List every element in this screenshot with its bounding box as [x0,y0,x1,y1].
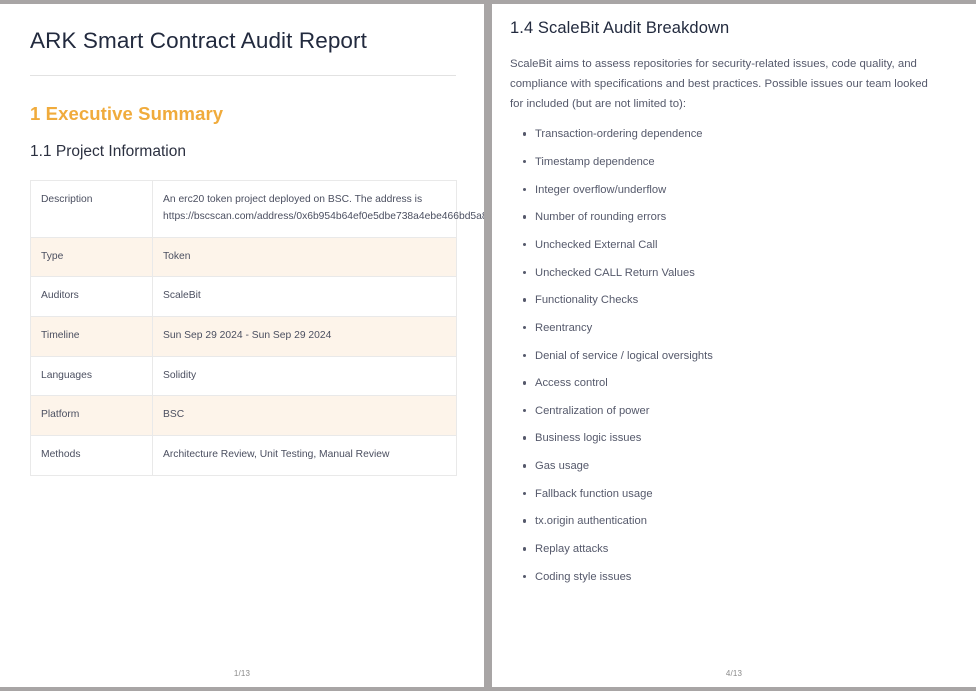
table-row: Platform BSC [31,396,457,436]
table-cell-value: Token [153,237,457,277]
list-item: Gas usage [510,459,963,474]
table-cell-key: Auditors [31,277,153,317]
document-page-1[interactable]: ARK Smart Contract Audit Report 1 Execut… [0,4,484,687]
list-item: Functionality Checks [510,293,963,308]
list-item: Access control [510,376,963,391]
list-item: Unchecked CALL Return Values [510,266,963,281]
list-item: tx.origin authentication [510,514,963,529]
table-cell-key: Languages [31,356,153,396]
table-cell-value: ScaleBit [153,277,457,317]
project-information-table-body: Description An erc20 token project deplo… [31,181,457,475]
table-cell-key: Description [31,181,153,237]
page-number-footer: 4/13 [492,669,976,678]
page-gap-divider [484,0,492,691]
list-item: Replay attacks [510,542,963,557]
section-heading-executive-summary: 1 Executive Summary [30,102,456,126]
audit-issue-list: Transaction-ordering dependence Timestam… [510,127,963,584]
list-item: Fallback function usage [510,487,963,502]
audit-breakdown-paragraph: ScaleBit aims to assess repositories for… [510,55,942,114]
list-item: Unchecked External Call [510,238,963,253]
table-cell-key: Platform [31,396,153,436]
list-item: Integer overflow/underflow [510,183,963,198]
list-item: Transaction-ordering dependence [510,127,963,142]
subsection-heading-scalebit-audit-breakdown: 1.4 ScaleBit Audit Breakdown [510,18,963,39]
document-page-4[interactable]: 1.4 ScaleBit Audit Breakdown ScaleBit ai… [492,4,976,687]
list-item: Number of rounding errors [510,210,963,225]
table-cell-value: Solidity [153,356,457,396]
table-cell-key: Methods [31,435,153,475]
subsection-heading-project-information: 1.1 Project Information [30,142,456,163]
table-cell-value: Architecture Review, Unit Testing, Manua… [153,435,457,475]
list-item: Reentrancy [510,321,963,336]
page-1-content: ARK Smart Contract Audit Report 1 Execut… [0,4,484,476]
table-cell-key: Timeline [31,316,153,356]
table-row: Timeline Sun Sep 29 2024 - Sun Sep 29 20… [31,316,457,356]
page-number-footer: 1/13 [0,669,484,678]
list-item: Coding style issues [510,570,963,585]
project-information-table: Description An erc20 token project deplo… [30,180,457,475]
table-row: Auditors ScaleBit [31,277,457,317]
list-item: Denial of service / logical oversights [510,349,963,364]
pdf-viewer[interactable]: ARK Smart Contract Audit Report 1 Execut… [0,0,976,691]
list-item: Business logic issues [510,431,963,446]
table-cell-value: An erc20 token project deployed on BSC. … [153,181,457,237]
page-title: ARK Smart Contract Audit Report [30,26,456,55]
table-cell-value: BSC [153,396,457,436]
table-row: Methods Architecture Review, Unit Testin… [31,435,457,475]
table-cell-value: Sun Sep 29 2024 - Sun Sep 29 2024 [153,316,457,356]
table-row: Type Token [31,237,457,277]
table-cell-key: Type [31,237,153,277]
title-divider [30,75,456,76]
list-item: Timestamp dependence [510,155,963,170]
table-row: Languages Solidity [31,356,457,396]
list-item: Centralization of power [510,404,963,419]
page-4-content: 1.4 ScaleBit Audit Breakdown ScaleBit ai… [510,18,963,597]
table-row: Description An erc20 token project deplo… [31,181,457,237]
